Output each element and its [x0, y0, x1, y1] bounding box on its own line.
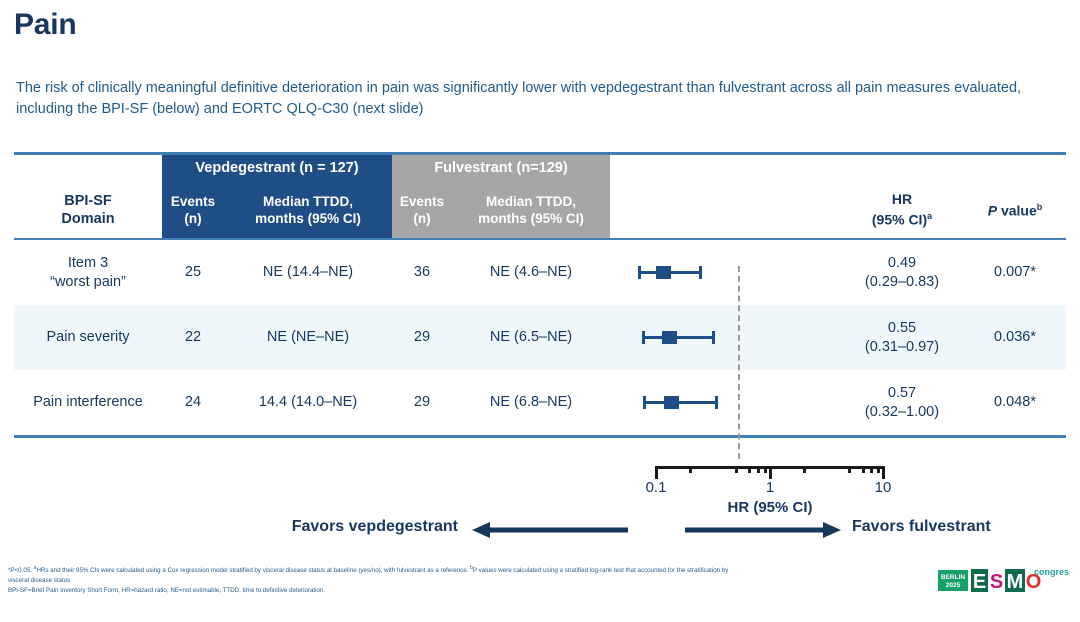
column-header-p-italic: P — [988, 203, 997, 219]
svg-text:2025: 2025 — [946, 582, 961, 589]
axis-tick-minor-0-2 — [689, 466, 692, 473]
results-table-body: Item 3 “worst pain” 25 NE (14.4–NE) 36 N… — [14, 240, 1066, 435]
column-header-hr-line1: HR — [840, 191, 964, 208]
table-bottom-rule — [14, 435, 1066, 438]
hazard-ratio-marker — [656, 266, 671, 279]
column-header-domain-line2: Domain — [14, 210, 162, 228]
axis-tick-minor-5 — [848, 466, 851, 473]
row-hr-ci: (0.32–1.00) — [840, 403, 964, 422]
favors-right-arrow-icon — [683, 519, 843, 541]
row-vep-events: 22 — [162, 305, 224, 370]
column-header-vep-events-line1: Events — [162, 193, 224, 210]
row-vep-events: 25 — [162, 240, 224, 305]
axis-title: HR (95% CI) — [727, 499, 812, 516]
column-header-domain: BPI-SF Domain — [14, 182, 162, 238]
column-header-vep-events-line2: (n) — [162, 210, 224, 227]
column-header-hr-superscript: a — [927, 211, 932, 221]
footnote-p-method: P values were calculated using a stratif… — [473, 567, 728, 574]
table-row: Pain interference 24 14.4 (14.0–NE) 29 N… — [14, 370, 1066, 435]
row-domain-line1: Pain interference — [14, 393, 162, 412]
row-ful-ttdd: NE (4.6–NE) — [452, 240, 610, 305]
column-header-ful-events-line2: (n) — [392, 210, 452, 227]
column-header-vep-ttdd: Median TTDD, months (95% CI) — [224, 182, 392, 238]
column-header-ful-ttdd-line2: months (95% CI) — [452, 210, 610, 227]
row-forest-plot-cell — [610, 305, 840, 370]
svg-text:BERLIN: BERLIN — [941, 574, 966, 581]
ci-cap-low — [643, 396, 646, 409]
axis-tick-minor-9 — [877, 466, 880, 473]
hazard-ratio-marker — [662, 331, 677, 344]
column-header-hr-line2: (95% CI) — [872, 211, 927, 227]
axis-tick-major-1 — [769, 466, 772, 479]
column-header-p-wrap: P valueb — [964, 199, 1066, 220]
ci-cap-low — [638, 266, 641, 279]
row-domain-line1: Item 3 — [14, 254, 162, 273]
column-header-vep-ttdd-line2: months (95% CI) — [224, 210, 392, 227]
table-row: Item 3 “worst pain” 25 NE (14.4–NE) 36 N… — [14, 240, 1066, 305]
footnote-abbreviations: BPI-SF=Brief Pain Inventory Short Form, … — [8, 586, 908, 596]
column-header-domain-line1: BPI-SF — [14, 192, 162, 210]
axis-tick-minor-0-8 — [757, 466, 760, 473]
page-title: Pain — [14, 8, 77, 42]
group-header-blank — [14, 155, 162, 182]
axis-label-0-1: 0.1 — [646, 479, 667, 496]
row-hr: 0.55 (0.31–0.97) — [840, 305, 964, 370]
axis-label-1: 1 — [766, 479, 774, 496]
hazard-ratio-marker — [664, 396, 679, 409]
axis-tick-minor-0-9 — [764, 466, 767, 473]
column-header-forest-plot-blank — [610, 182, 840, 238]
forest-marker-row — [610, 240, 840, 305]
confidence-interval-line — [642, 336, 715, 339]
axis-tick-major-10 — [882, 466, 885, 479]
row-ful-events: 29 — [392, 370, 452, 435]
row-domain-line2: “worst pain” — [14, 273, 162, 292]
column-header-ful-events: Events (n) — [392, 182, 452, 238]
ci-cap-high — [699, 266, 702, 279]
row-hr-point: 0.57 — [840, 384, 964, 403]
row-hr: 0.57 (0.32–1.00) — [840, 370, 964, 435]
footnote-hr-method: HRs and their 95% CIs were calculated us… — [36, 567, 470, 574]
row-vep-ttdd: 14.4 (14.0–NE) — [224, 370, 392, 435]
column-header-hr: HR (95% CI)a — [840, 182, 964, 238]
row-domain-line1: Pain severity — [14, 328, 162, 347]
column-header-vep-ttdd-line1: Median TTDD, — [224, 193, 392, 210]
axis-line — [655, 466, 884, 469]
axis-tick-major-0-1 — [655, 466, 658, 479]
axis-label-10: 10 — [875, 479, 892, 496]
row-forest-plot-cell — [610, 240, 840, 305]
row-vep-ttdd: NE (14.4–NE) — [224, 240, 392, 305]
slide-subtitle: The risk of clinically meaningful defini… — [16, 78, 1062, 120]
results-table: Vepdegestrant (n = 127) Fulvestrant (n=1… — [14, 155, 1066, 238]
row-domain: Pain interference — [14, 370, 162, 435]
row-p-value: 0.007* — [964, 240, 1066, 305]
column-header-p-superscript: b — [1037, 202, 1043, 212]
column-header-ful-ttdd: Median TTDD, months (95% CI) — [452, 182, 610, 238]
row-ful-ttdd: NE (6.8–NE) — [452, 370, 610, 435]
table-row: Pain severity 22 NE (NE–NE) 29 NE (6.5–N… — [14, 305, 1066, 370]
ci-cap-low — [642, 331, 645, 344]
favors-left-arrow-icon — [470, 519, 630, 541]
row-hr-point: 0.49 — [840, 254, 964, 273]
row-ful-events: 36 — [392, 240, 452, 305]
column-header-ful-ttdd-line1: Median TTDD, — [452, 193, 610, 210]
group-header-fulvestrant: Fulvestrant (n=129) — [392, 155, 610, 182]
row-ful-events: 29 — [392, 305, 452, 370]
footnote-p-threshold: <0.05. — [15, 567, 34, 574]
axis-tick-minor-2 — [803, 466, 806, 473]
confidence-interval-line — [643, 401, 718, 404]
forest-marker-row — [610, 370, 840, 435]
ci-cap-high — [715, 396, 718, 409]
column-header-hr-line2-wrap: (95% CI)a — [840, 208, 964, 229]
esmo-congress-logo: BERLIN 2025 E S M O congress — [938, 566, 1070, 596]
axis-tick-minor-7 — [862, 466, 865, 473]
column-header-ful-events-line1: Events — [392, 193, 452, 210]
ci-cap-high — [712, 331, 715, 344]
row-vep-ttdd: NE (NE–NE) — [224, 305, 392, 370]
row-forest-plot-cell — [610, 370, 840, 435]
group-header-p-blank — [964, 155, 1066, 182]
row-p-value: 0.048* — [964, 370, 1066, 435]
axis-tick-minor-0-5 — [735, 466, 738, 473]
footnote-line-1: *P<0.05. aHRs and their 95% CIs were cal… — [8, 564, 908, 576]
svg-text:congress: congress — [1034, 567, 1070, 577]
results-table-wrapper: Vepdegestrant (n = 127) Fulvestrant (n=1… — [14, 152, 1066, 438]
axis-tick-minor-8 — [870, 466, 873, 473]
esmo-logo-graphic: BERLIN 2025 E S M O congress — [938, 566, 1070, 596]
column-header-p-value: P valueb — [964, 182, 1066, 238]
row-hr-ci: (0.31–0.97) — [840, 338, 964, 357]
svg-text:S: S — [990, 571, 1003, 593]
row-domain: Item 3 “worst pain” — [14, 240, 162, 305]
favors-vepdegestrant-label: Favors vepdegestrant — [292, 518, 458, 536]
table-group-header-row: Vepdegestrant (n = 127) Fulvestrant (n=1… — [14, 155, 1066, 182]
row-hr-point: 0.55 — [840, 319, 964, 338]
row-domain: Pain severity — [14, 305, 162, 370]
group-header-plot-blank — [610, 155, 840, 182]
row-vep-events: 24 — [162, 370, 224, 435]
group-header-hr-blank — [840, 155, 964, 182]
footnote-line-2: visceral disease status — [8, 576, 908, 586]
group-header-vepdegestrant: Vepdegestrant (n = 127) — [162, 155, 392, 182]
row-ful-ttdd: NE (6.5–NE) — [452, 305, 610, 370]
row-hr: 0.49 (0.29–0.83) — [840, 240, 964, 305]
forest-marker-row — [610, 305, 840, 370]
table-column-header-row: BPI-SF Domain Events (n) Median TTDD, mo… — [14, 182, 1066, 238]
column-header-vep-events: Events (n) — [162, 182, 224, 238]
row-p-value: 0.036* — [964, 305, 1066, 370]
footnotes: *P<0.05. aHRs and their 95% CIs were cal… — [8, 564, 908, 596]
svg-text:M: M — [1007, 571, 1024, 593]
column-header-p-rest: value — [997, 203, 1037, 219]
axis-tick-minor-0-7 — [748, 466, 751, 473]
row-hr-ci: (0.29–0.83) — [840, 273, 964, 292]
favors-fulvestrant-label: Favors fulvestrant — [852, 518, 991, 536]
svg-text:E: E — [973, 571, 986, 593]
